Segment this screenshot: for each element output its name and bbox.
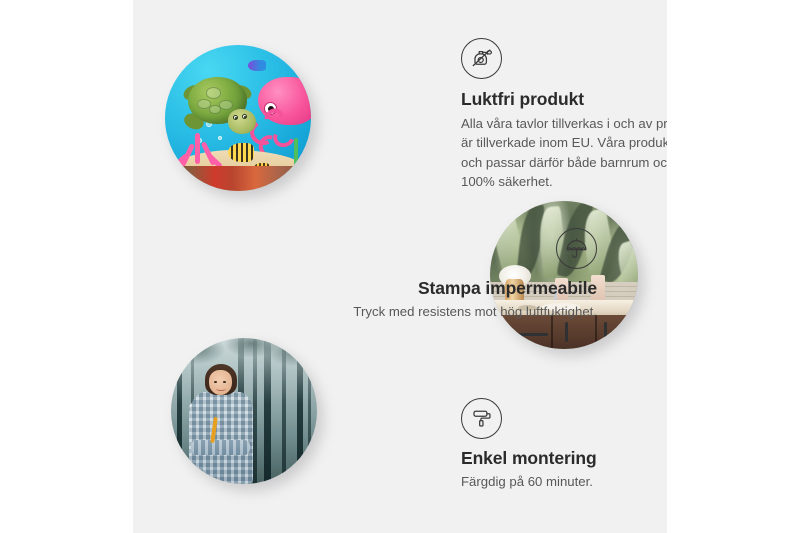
woman-torso-plaid-shirt <box>189 392 253 484</box>
woman-face <box>209 370 232 395</box>
bottom-color-strip <box>165 166 311 191</box>
underwater-illustration <box>165 45 311 191</box>
no-perfume-bottle-icon <box>461 38 502 79</box>
drawer-handle <box>512 333 548 336</box>
feature-waterproof-print: Stampa impermeabile Tryck med resistens … <box>329 228 597 321</box>
feature-title: Luktfri produkt <box>461 89 667 110</box>
woman-forest-photo <box>171 338 317 484</box>
cabinet-handle <box>604 322 607 342</box>
feature-body: Färgdig på 60 minuter. <box>461 472 667 491</box>
fish-yellow-striped <box>228 143 254 162</box>
page-root: Luktfri produkt Alla våra tavlor tillver… <box>0 0 800 533</box>
content-panel: Luktfri produkt Alla våra tavlor tillver… <box>133 0 667 533</box>
paint-roller-icon <box>461 398 502 439</box>
feature-easy-mounting: Enkel montering Färgdig på 60 minuter. <box>461 398 667 491</box>
medallion-woman-paint-roller-forest <box>171 338 317 484</box>
feature-body: Alla våra tavlor tillverkas i och av pro… <box>461 114 667 191</box>
feature-title: Stampa impermeabile <box>329 278 597 299</box>
woman-smile <box>216 386 226 390</box>
woman-crossed-arms <box>191 440 249 455</box>
fish-blue <box>248 60 266 72</box>
turtle-head <box>228 109 256 134</box>
cabinet-handle <box>565 322 568 342</box>
umbrella-icon <box>556 228 597 269</box>
feature-body: Tryck med resistens mot hög luftfuktighe… <box>329 302 597 321</box>
medallion-underwater-kids-mural <box>165 45 311 191</box>
feature-title: Enkel montering <box>461 448 667 469</box>
feature-odour-free: Luktfri produkt Alla våra tavlor tillver… <box>461 38 667 191</box>
